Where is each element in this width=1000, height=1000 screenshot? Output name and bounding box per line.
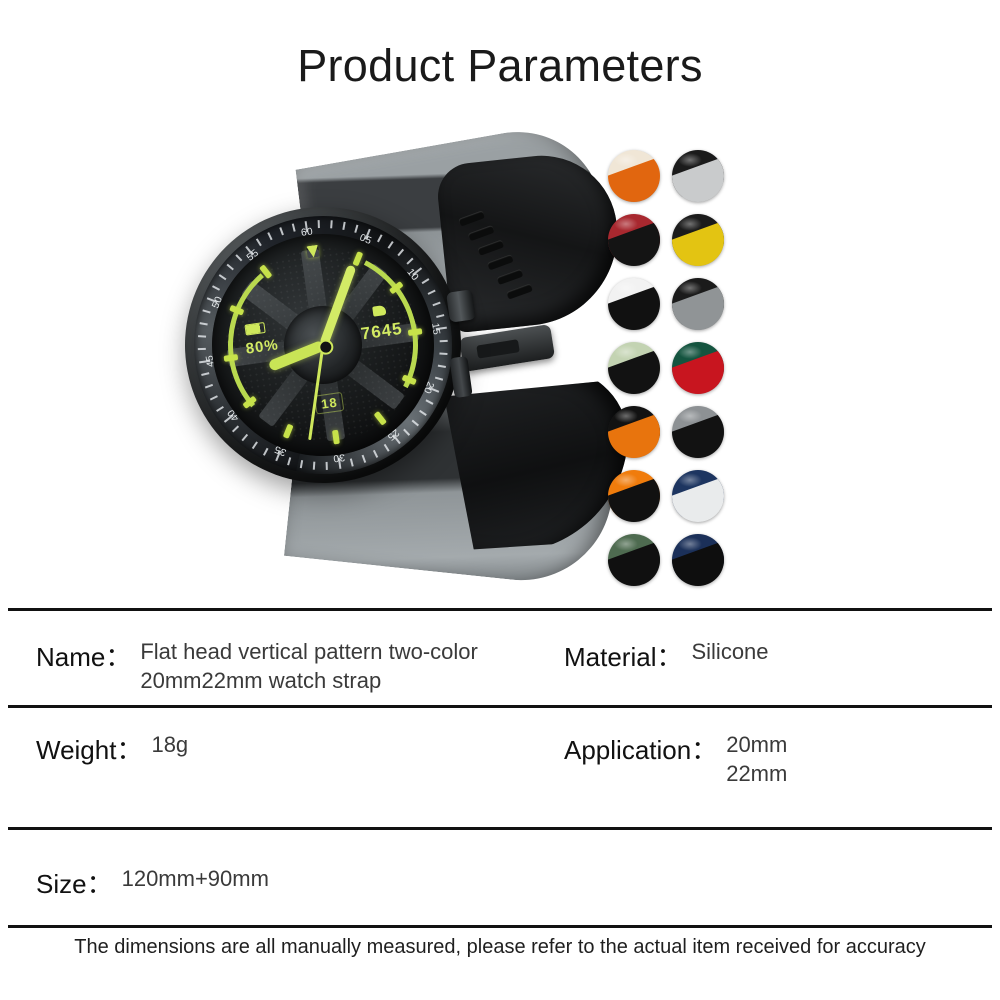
spec-label-material: Material： <box>564 637 682 674</box>
spec-value-name-line-1: Flat head vertical pattern two-color <box>140 637 478 666</box>
spec-value-application-line-2: 22mm <box>726 759 787 788</box>
color-swatch-white-black[interactable] <box>608 278 660 330</box>
table-rule-bottom <box>8 925 992 928</box>
strap-hole <box>496 269 523 285</box>
color-swatch-red-black[interactable] <box>608 214 660 266</box>
spec-value-weight: 18g <box>151 730 188 759</box>
color-swatch-row <box>608 278 736 330</box>
color-swatch-grid <box>608 150 736 598</box>
spec-cell-weight: Weight： 18g <box>8 708 564 767</box>
spec-row-size: Size： 120mm+90mm <box>8 830 992 925</box>
spec-row-weight: Weight： 18g Application： 20mm 22mm <box>8 708 992 827</box>
color-swatch-orange-black[interactable] <box>608 406 660 458</box>
spec-value-application: 20mm 22mm <box>726 730 787 788</box>
hour-marker <box>306 245 320 259</box>
color-swatch-yellow-black[interactable] <box>672 214 724 266</box>
color-swatch-row <box>608 342 736 394</box>
product-image-area: 051015202530354045505560 80% 7645 18 <box>0 125 1000 585</box>
spec-value-size: 120mm+90mm <box>122 864 269 893</box>
smartwatch-product-photo: 051015202530354045505560 80% 7645 18 <box>175 135 595 575</box>
spec-cell-size: Size： 120mm+90mm <box>8 830 564 901</box>
watch-crown <box>446 289 476 322</box>
color-swatch-row <box>608 406 736 458</box>
spec-value-material: Silicone <box>691 637 768 666</box>
steps-icon <box>372 305 386 317</box>
color-swatch-navy-blue-black[interactable] <box>672 534 724 586</box>
strap-hole <box>487 254 514 270</box>
spec-label-weight: Weight： <box>36 730 142 767</box>
strap-hole <box>506 283 533 299</box>
spec-cell-name: Name： Flat head vertical pattern two-col… <box>8 611 564 695</box>
color-swatch-darkgray-black[interactable] <box>672 406 724 458</box>
color-swatch-row <box>608 150 736 202</box>
spec-value-application-line-1: 20mm <box>726 730 787 759</box>
strap-hole <box>468 225 495 241</box>
spec-cell-application: Application： 20mm 22mm <box>564 708 992 788</box>
spec-cell-material: Material： Silicone <box>564 611 992 674</box>
strap-hole <box>477 239 504 255</box>
spec-value-name-line-2: 20mm22mm watch strap <box>140 666 478 695</box>
color-swatch-mint-black[interactable] <box>608 342 660 394</box>
spec-cell-empty <box>564 830 992 856</box>
footer-disclaimer: The dimensions are all manually measured… <box>0 936 1000 959</box>
spec-row-name: Name： Flat head vertical pattern two-col… <box>8 611 992 705</box>
color-swatch-green-red[interactable] <box>672 342 724 394</box>
spec-value-name: Flat head vertical pattern two-color 20m… <box>140 637 478 695</box>
color-swatch-army-green-black[interactable] <box>608 534 660 586</box>
page-title: Product Parameters <box>0 40 1000 92</box>
color-swatch-row <box>608 214 736 266</box>
hour-marker <box>408 328 423 336</box>
watch-head: 051015202530354045505560 80% 7645 18 <box>185 207 461 483</box>
date-label: 18 <box>314 392 345 415</box>
spec-value-size-line-1: 120mm+90mm <box>122 864 269 893</box>
color-swatch-orange-cream[interactable] <box>608 150 660 202</box>
color-swatch-row <box>608 470 736 522</box>
color-swatch-navy-white[interactable] <box>672 470 724 522</box>
spec-label-application: Application： <box>564 730 717 767</box>
spec-value-weight-line-1: 18g <box>151 730 188 759</box>
spec-label-name: Name： <box>36 637 131 674</box>
color-swatch-orange-black-2[interactable] <box>608 470 660 522</box>
color-swatch-silver-black[interactable] <box>672 150 724 202</box>
spec-value-material-line-1: Silicone <box>691 637 768 666</box>
specification-table: Name： Flat head vertical pattern two-col… <box>8 608 992 928</box>
spec-label-size: Size： <box>36 864 113 901</box>
color-swatch-gray-black[interactable] <box>672 278 724 330</box>
color-swatch-row <box>608 534 736 586</box>
